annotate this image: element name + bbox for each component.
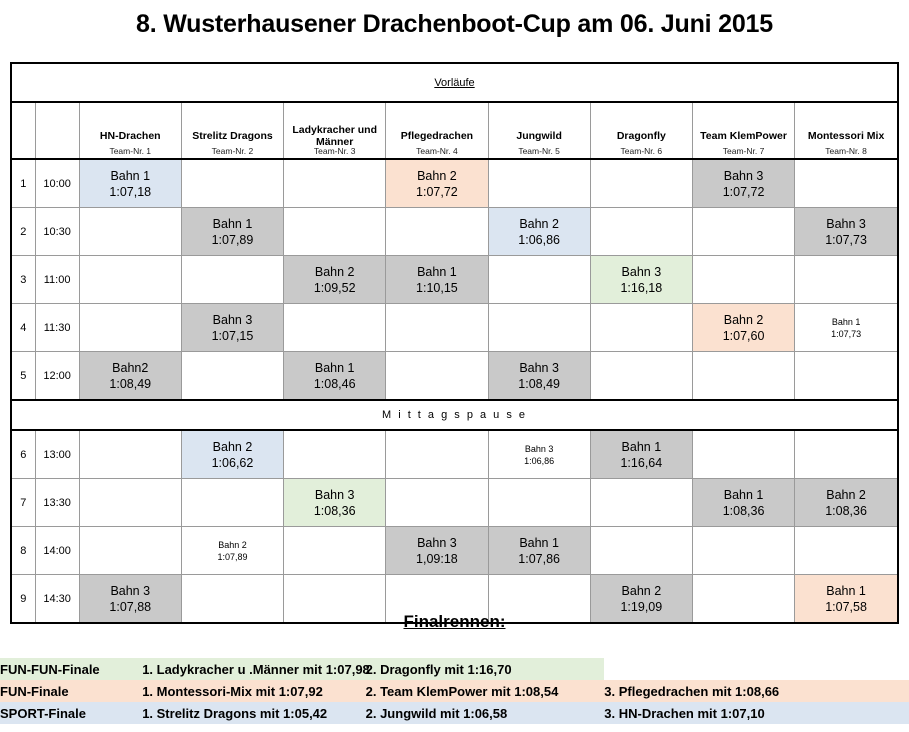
final-place-1: 1. Ladykracher u .Männer mit 1:07,98 xyxy=(142,658,365,680)
team-name: Montessori Mix xyxy=(795,120,897,142)
lane-time: 1:07,72 xyxy=(723,184,765,200)
heat-cell xyxy=(692,430,794,479)
heat-entry xyxy=(489,160,590,207)
heat-cell xyxy=(79,256,181,304)
heat-entry xyxy=(693,352,794,399)
lane-label: Bahn 2 xyxy=(213,439,253,455)
team-header-3: Ladykracher und MännerTeam-Nr. 3 xyxy=(284,102,386,159)
final-label: SPORT-Finale xyxy=(0,702,142,724)
final-place-3 xyxy=(604,658,909,680)
heat-cell xyxy=(79,304,181,352)
team-header-8: Montessori MixTeam-Nr. 8 xyxy=(795,102,898,159)
heat-cell xyxy=(386,208,488,256)
race-time: 13:30 xyxy=(35,479,79,527)
heat-entry xyxy=(591,527,692,574)
lane-time: 1:08,46 xyxy=(314,376,356,392)
heat-cell xyxy=(181,479,283,527)
heat-entry xyxy=(795,160,897,207)
heat-entry: Bahn 21:07,89 xyxy=(182,527,283,574)
lane-label: Bahn2 xyxy=(112,360,148,376)
heat-entry: Bahn 21:08,36 xyxy=(795,479,897,526)
race-time: 12:00 xyxy=(35,352,79,401)
heat-cell xyxy=(284,159,386,208)
lane-label: Bahn 1 xyxy=(826,583,866,599)
lane-label: Bahn 1 xyxy=(315,360,355,376)
heat-entry xyxy=(386,479,487,526)
lane-label: Bahn 1 xyxy=(417,264,457,280)
heat-cell xyxy=(79,208,181,256)
lane-time: 1:07,89 xyxy=(217,551,247,563)
heat-cell xyxy=(590,527,692,575)
heat-entry: Bahn 11:07,86 xyxy=(489,527,590,574)
heat-cell xyxy=(181,256,283,304)
heat-cell xyxy=(795,352,898,401)
team-header-7: Team KlemPowerTeam-Nr. 7 xyxy=(692,102,794,159)
team-name: Dragonfly xyxy=(591,120,692,142)
heat-entry xyxy=(795,431,897,478)
schedule-row: 110:00Bahn 11:07,18Bahn 21:07,72Bahn 31:… xyxy=(11,159,898,208)
team-header-6: DragonflyTeam-Nr. 6 xyxy=(590,102,692,159)
heat-entry: Bahn 11:07,89 xyxy=(182,208,283,255)
heat-cell xyxy=(386,479,488,527)
heat-entry: Bahn21:08,49 xyxy=(80,352,181,399)
page-root: 8. Wusterhausener Drachenboot-Cup am 06.… xyxy=(0,0,909,732)
lane-label: Bahn 2 xyxy=(315,264,355,280)
heat-cell: Bahn 21:07,60 xyxy=(692,304,794,352)
team-header-row: HN-DrachenTeam-Nr. 1Strelitz DragonsTeam… xyxy=(11,102,898,159)
heat-cell: Bahn 11:07,86 xyxy=(488,527,590,575)
heat-cell: Bahn 31:07,15 xyxy=(181,304,283,352)
lane-time: 1:08,49 xyxy=(109,376,151,392)
heat-entry xyxy=(182,160,283,207)
race-time: 13:00 xyxy=(35,430,79,479)
team-header-5: JungwildTeam-Nr. 5 xyxy=(488,102,590,159)
heat-entry: Bahn 21:07,72 xyxy=(386,160,487,207)
team-name: Strelitz Dragons xyxy=(182,120,283,142)
heat-entry xyxy=(182,479,283,526)
heat-cell: Bahn 31:06,86 xyxy=(488,430,590,479)
team-number: Team-Nr. 5 xyxy=(489,146,590,156)
heat-cell: Bahn 21:08,36 xyxy=(795,479,898,527)
lane-label: Bahn 3 xyxy=(110,583,150,599)
race-time: 11:00 xyxy=(35,256,79,304)
race-number: 5 xyxy=(11,352,35,401)
lane-time: 1:07,89 xyxy=(212,232,254,248)
schedule-row: 713:30Bahn 31:08,36Bahn 11:08,36Bahn 21:… xyxy=(11,479,898,527)
heat-cell: Bahn 31:16,18 xyxy=(590,256,692,304)
team-name: Pflegedrachen xyxy=(386,120,487,142)
header-blank-no xyxy=(11,102,35,159)
heat-cell xyxy=(590,304,692,352)
heat-entry: Bahn 31:07,73 xyxy=(795,208,897,255)
lane-time: 1:07,72 xyxy=(416,184,458,200)
lane-time: 1:08,49 xyxy=(518,376,560,392)
heat-entry: Bahn 21:06,86 xyxy=(489,208,590,255)
heat-cell xyxy=(284,304,386,352)
heat-cell xyxy=(488,159,590,208)
final-place-2: 2. Team KlemPower mit 1:08,54 xyxy=(366,680,605,702)
heat-cell xyxy=(590,159,692,208)
heat-cell: Bahn 11:07,89 xyxy=(181,208,283,256)
page-title: 8. Wusterhausener Drachenboot-Cup am 06.… xyxy=(0,10,909,39)
heat-cell: Bahn 11:07,18 xyxy=(79,159,181,208)
heat-cell xyxy=(284,527,386,575)
heat-entry xyxy=(489,479,590,526)
lane-label: Bahn 2 xyxy=(218,539,247,551)
lane-label: Bahn 2 xyxy=(622,583,662,599)
heat-cell xyxy=(590,352,692,401)
schedule-table: VorläufeHN-DrachenTeam-Nr. 1Strelitz Dra… xyxy=(10,62,899,624)
heat-cell xyxy=(692,208,794,256)
heat-entry xyxy=(591,479,692,526)
lane-label: Bahn 3 xyxy=(417,535,457,551)
schedule-row: 311:00Bahn 21:09,52Bahn 11:10,15Bahn 31:… xyxy=(11,256,898,304)
heat-cell: Bahn 21:07,89 xyxy=(181,527,283,575)
race-number: 4 xyxy=(11,304,35,352)
heat-entry xyxy=(182,352,283,399)
heat-entry xyxy=(591,352,692,399)
team-header-2: Strelitz DragonsTeam-Nr. 2 xyxy=(181,102,283,159)
race-number: 1 xyxy=(11,159,35,208)
team-name: HN-Drachen xyxy=(80,120,181,142)
final-label: FUN-FUN-Finale xyxy=(0,658,142,680)
final-row: SPORT-Finale1. Strelitz Dragons mit 1:05… xyxy=(0,702,909,724)
heat-entry xyxy=(693,431,794,478)
heat-entry xyxy=(284,527,385,574)
heat-entry xyxy=(795,527,897,574)
heat-cell xyxy=(692,256,794,304)
heat-cell xyxy=(79,527,181,575)
heat-cell: Bahn 11:08,36 xyxy=(692,479,794,527)
heat-cell xyxy=(488,304,590,352)
heat-entry xyxy=(182,256,283,303)
lane-time: 1:08,36 xyxy=(825,503,867,519)
lane-label: Bahn 3 xyxy=(622,264,662,280)
heat-entry xyxy=(284,431,385,478)
race-number: 3 xyxy=(11,256,35,304)
heat-entry xyxy=(386,352,487,399)
heat-cell: Bahn 31,09:18 xyxy=(386,527,488,575)
heat-cell: Bahn 31:08,36 xyxy=(284,479,386,527)
lane-label: Bahn 1 xyxy=(724,487,764,503)
lane-label: Bahn 3 xyxy=(724,168,764,184)
lane-time: 1:06,86 xyxy=(518,232,560,248)
finals-heading: Finalrennen: xyxy=(0,612,909,632)
heat-entry: Bahn 11:08,46 xyxy=(284,352,385,399)
lane-label: Bahn 3 xyxy=(826,216,866,232)
team-name: Team KlemPower xyxy=(693,120,794,142)
heat-cell xyxy=(284,430,386,479)
heat-cell: Bahn21:08,49 xyxy=(79,352,181,401)
heat-entry xyxy=(80,304,181,351)
lane-label: Bahn 3 xyxy=(213,312,253,328)
heat-cell: Bahn 11:08,46 xyxy=(284,352,386,401)
heat-entry xyxy=(284,304,385,351)
team-name: Ladykracher und Männer xyxy=(284,114,385,148)
race-number: 6 xyxy=(11,430,35,479)
heat-cell xyxy=(488,479,590,527)
heat-entry: Bahn 31:07,15 xyxy=(182,304,283,351)
race-time: 11:30 xyxy=(35,304,79,352)
heat-cell xyxy=(79,430,181,479)
lane-time: 1:08,36 xyxy=(723,503,765,519)
final-place-1: 1. Strelitz Dragons mit 1:05,42 xyxy=(142,702,365,724)
schedule-row: 411:30Bahn 31:07,15Bahn 21:07,60Bahn 11:… xyxy=(11,304,898,352)
race-number: 7 xyxy=(11,479,35,527)
heat-entry xyxy=(386,431,487,478)
schedule-row: 210:30Bahn 11:07,89Bahn 21:06,86Bahn 31:… xyxy=(11,208,898,256)
heat-cell xyxy=(692,527,794,575)
heat-cell: Bahn 21:09,52 xyxy=(284,256,386,304)
lane-label: Bahn 2 xyxy=(826,487,866,503)
heat-cell xyxy=(795,527,898,575)
heat-entry xyxy=(284,160,385,207)
heat-entry xyxy=(489,304,590,351)
lane-time: 1:07,73 xyxy=(825,232,867,248)
heat-entry xyxy=(693,256,794,303)
lane-label: Bahn 1 xyxy=(213,216,253,232)
schedule-row: 613:00Bahn 21:06,62Bahn 31:06,86Bahn 11:… xyxy=(11,430,898,479)
heat-cell: Bahn 21:07,72 xyxy=(386,159,488,208)
heat-entry xyxy=(489,256,590,303)
vorlaeufe-banner: Vorläufe xyxy=(11,63,898,102)
final-place-2: 2. Dragonfly mit 1:16,70 xyxy=(366,658,605,680)
heat-entry: Bahn 31:06,86 xyxy=(489,431,590,478)
heat-entry: Bahn 31:08,49 xyxy=(489,352,590,399)
heat-cell xyxy=(386,304,488,352)
heat-cell: Bahn 21:06,62 xyxy=(181,430,283,479)
heat-entry xyxy=(795,256,897,303)
lane-time: 1:07,18 xyxy=(109,184,151,200)
team-number: Team-Nr. 8 xyxy=(795,146,897,156)
team-number: Team-Nr. 7 xyxy=(693,146,794,156)
heat-entry xyxy=(591,160,692,207)
final-place-3: 3. HN-Drachen mit 1:07,10 xyxy=(604,702,909,724)
mittagspause-row: M i t t a g s p a u s e xyxy=(11,400,898,430)
heat-cell: Bahn 21:06,86 xyxy=(488,208,590,256)
lane-label: Bahn 2 xyxy=(519,216,559,232)
heat-cell xyxy=(590,479,692,527)
heat-entry xyxy=(386,304,487,351)
final-label: FUN-Finale xyxy=(0,680,142,702)
team-number: Team-Nr. 6 xyxy=(591,146,692,156)
heat-cell xyxy=(181,352,283,401)
heat-entry xyxy=(693,208,794,255)
schedule-row: 512:00Bahn21:08,49Bahn 11:08,46Bahn 31:0… xyxy=(11,352,898,401)
vorlaeufe-banner-row: Vorläufe xyxy=(11,63,898,102)
lane-time: 1:16,64 xyxy=(620,455,662,471)
heat-cell xyxy=(386,430,488,479)
heat-entry: Bahn 31:16,18 xyxy=(591,256,692,303)
heat-entry xyxy=(284,208,385,255)
team-number: Team-Nr. 3 xyxy=(284,146,385,156)
race-time: 10:30 xyxy=(35,208,79,256)
mittagspause-banner: M i t t a g s p a u s e xyxy=(11,400,898,430)
heat-entry: Bahn 21:06,62 xyxy=(182,431,283,478)
final-row: FUN-FUN-Finale1. Ladykracher u .Männer m… xyxy=(0,658,909,680)
lane-label: Bahn 2 xyxy=(724,312,764,328)
lane-label: Bahn 3 xyxy=(315,487,355,503)
team-name: Jungwild xyxy=(489,120,590,142)
heat-entry: Bahn 11:10,15 xyxy=(386,256,487,303)
heat-entry xyxy=(591,304,692,351)
heat-entry xyxy=(80,431,181,478)
heat-entry: Bahn 31,09:18 xyxy=(386,527,487,574)
lane-time: 1:09,52 xyxy=(314,280,356,296)
heat-cell: Bahn 31:07,72 xyxy=(692,159,794,208)
lane-label: Bahn 3 xyxy=(525,443,554,455)
heat-cell: Bahn 31:07,73 xyxy=(795,208,898,256)
lane-time: 1:16,18 xyxy=(620,280,662,296)
lane-time: 1:06,62 xyxy=(212,455,254,471)
heat-entry: Bahn 21:07,60 xyxy=(693,304,794,351)
heat-entry xyxy=(795,352,897,399)
final-place-3: 3. Pflegedrachen mit 1:08,66 xyxy=(604,680,909,702)
heat-cell: Bahn 11:07,73 xyxy=(795,304,898,352)
team-number: Team-Nr. 2 xyxy=(182,146,283,156)
team-header-1: HN-DrachenTeam-Nr. 1 xyxy=(79,102,181,159)
race-time: 14:00 xyxy=(35,527,79,575)
final-row: FUN-Finale1. Montessori-Mix mit 1:07,922… xyxy=(0,680,909,702)
lane-label: Bahn 1 xyxy=(519,535,559,551)
heat-entry xyxy=(80,256,181,303)
team-header-4: PflegedrachenTeam-Nr. 4 xyxy=(386,102,488,159)
heat-entry xyxy=(693,527,794,574)
finals-table: FUN-FUN-Finale1. Ladykracher u .Männer m… xyxy=(0,658,909,724)
heat-cell xyxy=(795,430,898,479)
race-time: 10:00 xyxy=(35,159,79,208)
heat-cell: Bahn 11:10,15 xyxy=(386,256,488,304)
heat-cell xyxy=(79,479,181,527)
final-place-1: 1. Montessori-Mix mit 1:07,92 xyxy=(142,680,365,702)
lane-label: Bahn 2 xyxy=(417,168,457,184)
heat-cell xyxy=(692,352,794,401)
heat-cell xyxy=(795,256,898,304)
heat-entry: Bahn 21:09,52 xyxy=(284,256,385,303)
heat-entry: Bahn 11:07,73 xyxy=(795,304,897,351)
lane-time: 1:10,15 xyxy=(416,280,458,296)
lane-label: Bahn 1 xyxy=(110,168,150,184)
heat-entry: Bahn 11:07,18 xyxy=(80,160,181,207)
lane-time: 1:07,73 xyxy=(831,328,861,340)
heat-cell xyxy=(386,352,488,401)
lane-time: 1:07,86 xyxy=(518,551,560,567)
team-number: Team-Nr. 1 xyxy=(80,146,181,156)
heat-entry: Bahn 11:16,64 xyxy=(591,431,692,478)
heat-entry: Bahn 11:08,36 xyxy=(693,479,794,526)
lane-time: 1,09:18 xyxy=(416,551,458,567)
header-blank-time xyxy=(35,102,79,159)
heat-entry xyxy=(80,479,181,526)
lane-label: Bahn 3 xyxy=(519,360,559,376)
lane-label: Bahn 1 xyxy=(622,439,662,455)
race-number: 2 xyxy=(11,208,35,256)
lane-time: 1:08,36 xyxy=(314,503,356,519)
heat-entry xyxy=(386,208,487,255)
lane-time: 1:07,15 xyxy=(212,328,254,344)
lane-label: Bahn 1 xyxy=(832,316,861,328)
schedule-row: 814:00Bahn 21:07,89Bahn 31,09:18Bahn 11:… xyxy=(11,527,898,575)
heat-cell xyxy=(590,208,692,256)
heat-cell xyxy=(181,159,283,208)
team-number: Team-Nr. 4 xyxy=(386,146,487,156)
final-place-2: 2. Jungwild mit 1:06,58 xyxy=(366,702,605,724)
heat-entry xyxy=(591,208,692,255)
heat-entry xyxy=(80,527,181,574)
lane-time: 1:06,86 xyxy=(524,455,554,467)
heat-cell: Bahn 11:16,64 xyxy=(590,430,692,479)
heat-cell: Bahn 31:08,49 xyxy=(488,352,590,401)
heat-entry: Bahn 31:08,36 xyxy=(284,479,385,526)
lane-time: 1:07,60 xyxy=(723,328,765,344)
heat-cell xyxy=(795,159,898,208)
heat-cell xyxy=(488,256,590,304)
heat-entry xyxy=(80,208,181,255)
heat-cell xyxy=(284,208,386,256)
race-number: 8 xyxy=(11,527,35,575)
heat-entry: Bahn 31:07,72 xyxy=(693,160,794,207)
